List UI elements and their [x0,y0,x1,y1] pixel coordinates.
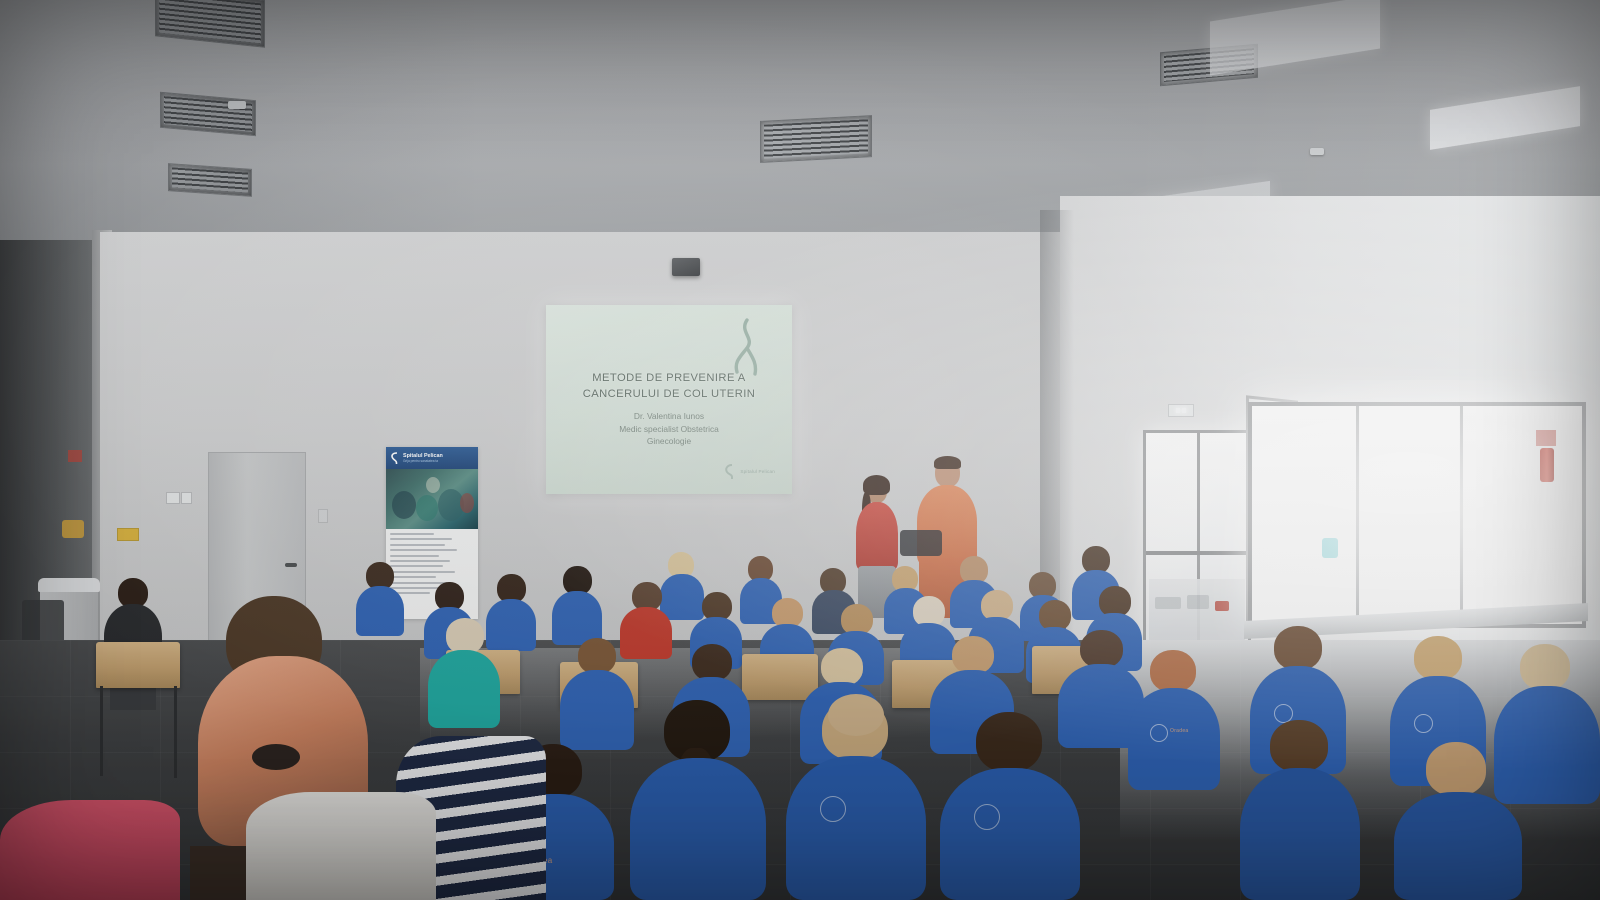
torso-red-shirt [856,502,898,570]
fire-extinguisher-sign [1536,430,1556,446]
wall-sign [68,450,82,462]
yellow-equipment [62,520,84,538]
light-switch[interactable] [318,509,328,523]
poster-header: Spitalul Pelican Grija pentru sanatatea … [386,447,478,469]
slide-presenter-name: Dr. Valentina Iunos [551,410,787,423]
slide-footer-logo: Spitalul Pelican [724,464,775,479]
fire-extinguisher-icon [1540,448,1554,482]
slide-subtitle: Dr. Valentina Iunos Medic specialist Obs… [551,410,787,448]
audience-member [1240,720,1360,900]
door-rail [1146,551,1248,555]
outside-view [1149,579,1245,649]
water-bottle [1322,538,1338,558]
slide-title-line2: CANCERULUI DE COL UTERIN [551,386,787,402]
shirt-logo-icon [1414,714,1433,733]
projector-mount-icon [672,258,700,276]
glass-entrance-door[interactable] [1143,430,1251,656]
audience-member [552,566,602,642]
light-switch[interactable] [166,492,180,504]
slide-title: METODE DE PREVENIRE A CANCERULUI DE COL … [551,370,787,402]
equipment-bag [900,530,942,556]
door-handle-icon[interactable] [285,563,297,567]
shirt-logo-icon [974,804,1000,830]
hair [934,456,961,469]
slide-title-line1: METODE DE PREVENIRE A [551,370,787,386]
audience-member [560,638,634,750]
warning-sign [117,528,139,541]
photo-scene: METODE DE PREVENIRE A CANCERULUI DE COL … [0,0,1600,900]
shirt-logo-icon [820,796,846,822]
pelican-logo-icon [724,464,737,479]
audience-member-front [786,700,926,900]
audience-member [428,618,500,728]
shirt-logo-icon [1150,724,1168,742]
chair-leg [174,686,177,778]
torso-white-shirt [246,792,436,900]
audience-member: Oradea [1128,650,1220,790]
projection-screen: METODE DE PREVENIRE A CANCERULUI DE COL … [546,305,792,494]
audience-member-front [940,712,1080,900]
shirt-logo-text: Oradea [1170,728,1188,734]
pelican-logo-icon [390,452,400,464]
slide-logo-text: Spitalul Pelican [740,469,775,474]
slide-presenter-role-2: Ginecologie [551,435,787,448]
chair[interactable] [96,642,180,688]
audience-member-foreground [0,790,180,900]
light-switch[interactable] [181,492,192,504]
audience-member-foreground [246,792,436,900]
poster-photo [386,469,478,529]
exit-sign-icon [1168,404,1194,417]
hair-tie [252,744,300,770]
audience-member-front [630,700,766,900]
chair-leg [100,686,103,776]
audience-member [1394,742,1522,900]
poster-tagline: Grija pentru sanatatea ta [403,459,443,463]
slide-presenter-role-1: Medic specialist Obstetrica [551,423,787,436]
